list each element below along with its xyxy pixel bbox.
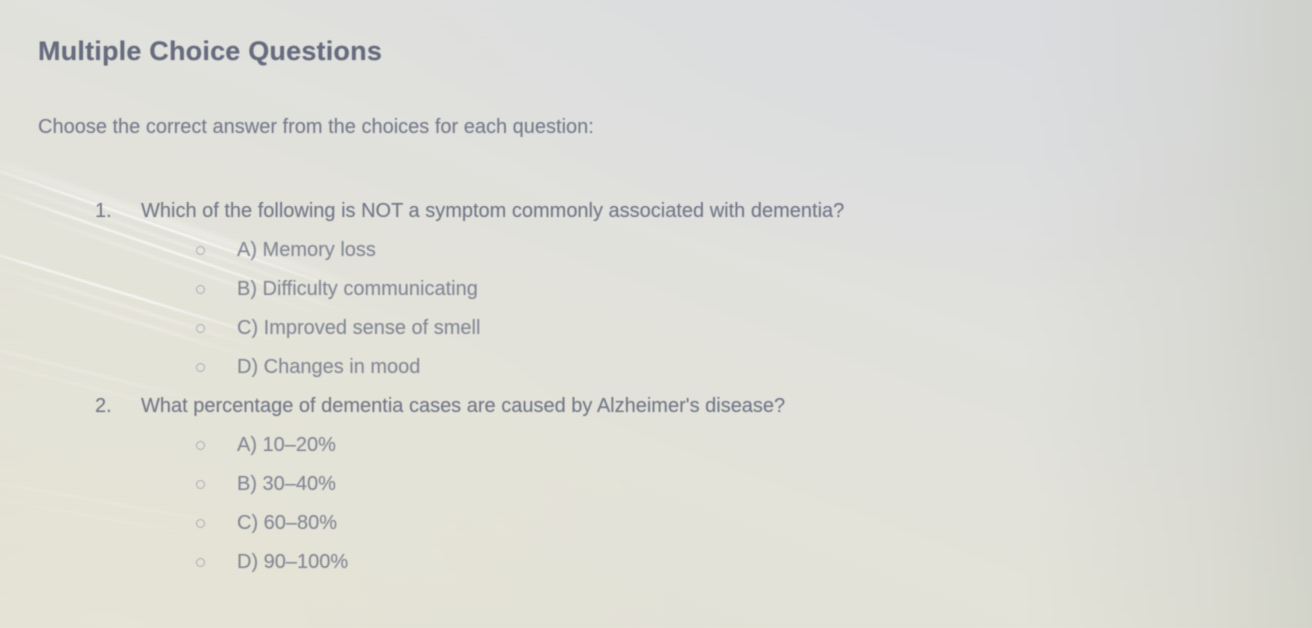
option-item[interactable]: C) Improved sense of smell [0, 309, 1312, 348]
question-item: 1. Which of the following is NOT a sympt… [0, 192, 1312, 231]
option-item[interactable]: D) Changes in mood [0, 348, 1312, 387]
question-list: 1. Which of the following is NOT a sympt… [0, 192, 1312, 582]
option-label: C) 60–80% [237, 512, 337, 535]
question-text: Which of the following is NOT a symptom … [141, 200, 844, 223]
option-label: A) Memory loss [237, 239, 376, 262]
option-item[interactable]: A) Memory loss [0, 231, 1312, 270]
option-item[interactable]: C) 60–80% [0, 504, 1312, 543]
circle-outline-icon [196, 324, 205, 333]
option-item[interactable]: D) 90–100% [0, 543, 1312, 582]
question-text: What percentage of dementia cases are ca… [141, 395, 785, 418]
question-item: 2. What percentage of dementia cases are… [0, 387, 1312, 426]
circle-outline-icon [196, 558, 205, 567]
option-label: D) 90–100% [237, 551, 348, 574]
photographed-screen: Multiple Choice Questions Choose the cor… [0, 0, 1312, 628]
option-label: C) Improved sense of smell [237, 317, 480, 340]
option-label: D) Changes in mood [237, 356, 420, 379]
circle-outline-icon [196, 519, 205, 528]
option-item[interactable]: B) Difficulty communicating [0, 270, 1312, 309]
option-label: B) 30–40% [237, 473, 336, 496]
question-number: 2. [95, 395, 137, 418]
circle-outline-icon [196, 480, 205, 489]
circle-outline-icon [196, 285, 205, 294]
circle-outline-icon [196, 363, 205, 372]
option-label: B) Difficulty communicating [237, 278, 478, 301]
question-number: 1. [95, 200, 137, 223]
instruction-text: Choose the correct answer from the choic… [38, 116, 594, 139]
circle-outline-icon [196, 246, 205, 255]
option-label: A) 10–20% [237, 434, 336, 457]
option-item[interactable]: B) 30–40% [0, 465, 1312, 504]
circle-outline-icon [196, 441, 205, 450]
page-title: Multiple Choice Questions [38, 36, 382, 67]
option-item[interactable]: A) 10–20% [0, 426, 1312, 465]
